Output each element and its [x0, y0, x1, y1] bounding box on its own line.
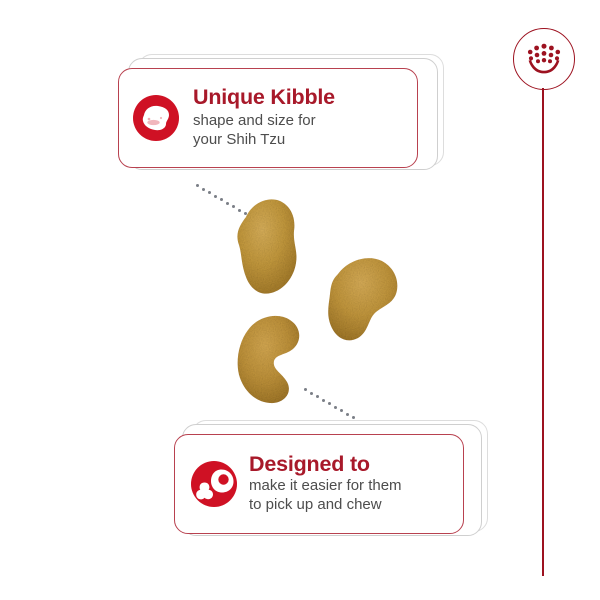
- card-line-1: shape and size for: [193, 112, 405, 131]
- card-line-1: make it easier for them: [249, 477, 457, 496]
- royal-canin-logo: [513, 28, 575, 90]
- info-card-designed-to[interactable]: Designed to make it easier for them to p…: [168, 428, 488, 546]
- logo-stem-line: [542, 88, 544, 576]
- kibble-icon: [133, 95, 179, 141]
- dog-jaw-icon: [191, 461, 237, 507]
- card-line-2: your Shih Tzu: [193, 131, 405, 150]
- kibble-piece-bottom-left: [232, 308, 314, 408]
- card-text-block: Designed to make it easier for them to p…: [249, 453, 457, 515]
- card-face[interactable]: Unique Kibble shape and size for your Sh…: [118, 68, 418, 168]
- kibble-piece-right: [316, 252, 406, 347]
- card-title: Designed to: [249, 453, 457, 476]
- kibble-photo-group: [196, 180, 426, 420]
- card-text-block: Unique Kibble shape and size for your Sh…: [193, 86, 405, 149]
- kibble-piece-top-left: [228, 193, 308, 303]
- card-face[interactable]: Designed to make it easier for them to p…: [174, 434, 464, 534]
- card-line-2: to pick up and chew: [249, 496, 457, 515]
- card-title: Unique Kibble: [193, 86, 405, 109]
- info-card-unique-kibble[interactable]: Unique Kibble shape and size for your Sh…: [112, 62, 442, 177]
- crown-icon: [524, 42, 564, 76]
- poster-canvas: Unique Kibble shape and size for your Sh…: [0, 0, 600, 600]
